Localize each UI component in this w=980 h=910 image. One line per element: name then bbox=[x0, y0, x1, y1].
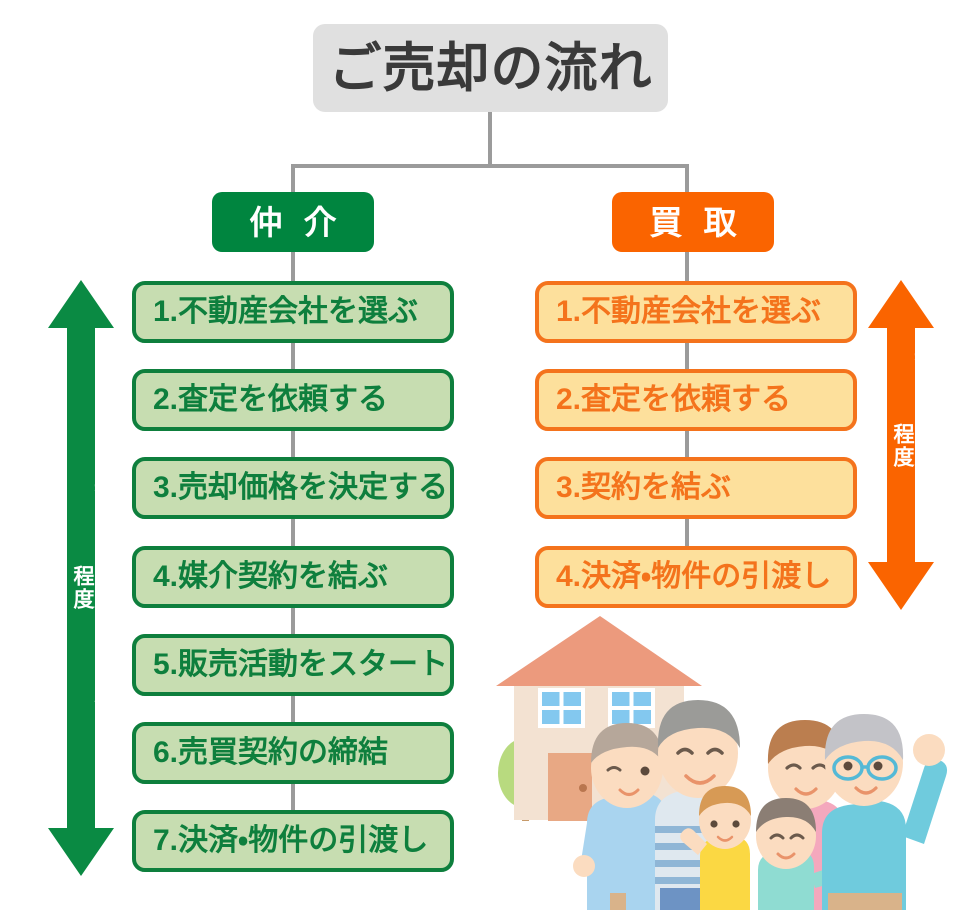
step-box: 2.査定を依頼する bbox=[132, 369, 454, 431]
step-box: 6.売買契約の締結 bbox=[132, 722, 454, 784]
duration-label-brokerage: 期間・3ヶ月〜6ヶ月程度 bbox=[48, 463, 114, 713]
step-label: 6.売買契約の締結 bbox=[153, 738, 388, 768]
page-title: ご売却の流れ bbox=[313, 24, 668, 112]
flowchart-diagram: ご売却の流れ 仲 介 買 取 1.不動産会社を選ぶ 2.査定を依頼する 3.売却… bbox=[0, 0, 980, 910]
duration-label-purchase: 期間・7日〜30日程度 bbox=[868, 335, 934, 557]
step-box: 1.不動産会社を選ぶ bbox=[535, 281, 857, 343]
branch-header-purchase-label: 買 取 bbox=[643, 206, 742, 239]
duration-arrow-brokerage: 期間・3ヶ月〜6ヶ月程度 bbox=[48, 280, 114, 876]
step-box: 1.不動産会社を選ぶ bbox=[132, 281, 454, 343]
step-box: 5.販売活動をスタート bbox=[132, 634, 454, 696]
step-label: 4.媒介契約を結ぶ bbox=[153, 562, 388, 592]
page-title-text: ご売却の流れ bbox=[329, 42, 653, 95]
duration-arrow-purchase: 期間・7日〜30日程度 bbox=[868, 280, 934, 610]
step-box: 4.媒介契約を結ぶ bbox=[132, 546, 454, 608]
step-box: 2.査定を依頼する bbox=[535, 369, 857, 431]
step-label: 7.決済・物件の引渡し bbox=[153, 826, 428, 856]
house-family-icon bbox=[470, 608, 980, 910]
step-box: 3.売却価格を決定する bbox=[132, 457, 454, 519]
step-box: 3.契約を結ぶ bbox=[535, 457, 857, 519]
branch-header-brokerage: 仲 介 bbox=[212, 192, 374, 252]
step-label: 1.不動産会社を選ぶ bbox=[153, 297, 418, 327]
step-label: 5.販売活動をスタート bbox=[153, 650, 448, 680]
step-box: 4.決済・物件の引渡し bbox=[535, 546, 857, 608]
step-label: 3.売却価格を決定する bbox=[153, 473, 448, 503]
step-label: 4.決済・物件の引渡し bbox=[556, 562, 831, 592]
connector-horizontal-bar bbox=[291, 164, 689, 168]
step-label: 1.不動産会社を選ぶ bbox=[556, 297, 821, 327]
step-label: 2.査定を依頼する bbox=[153, 385, 388, 415]
branch-header-brokerage-label: 仲 介 bbox=[243, 206, 342, 239]
step-label: 3.契約を結ぶ bbox=[556, 473, 731, 503]
family-and-house-illustration bbox=[470, 608, 980, 910]
branch-header-purchase: 買 取 bbox=[612, 192, 774, 252]
step-box: 7.決済・物件の引渡し bbox=[132, 810, 454, 872]
connector-title-stem bbox=[488, 112, 492, 168]
step-label: 2.査定を依頼する bbox=[556, 385, 791, 415]
